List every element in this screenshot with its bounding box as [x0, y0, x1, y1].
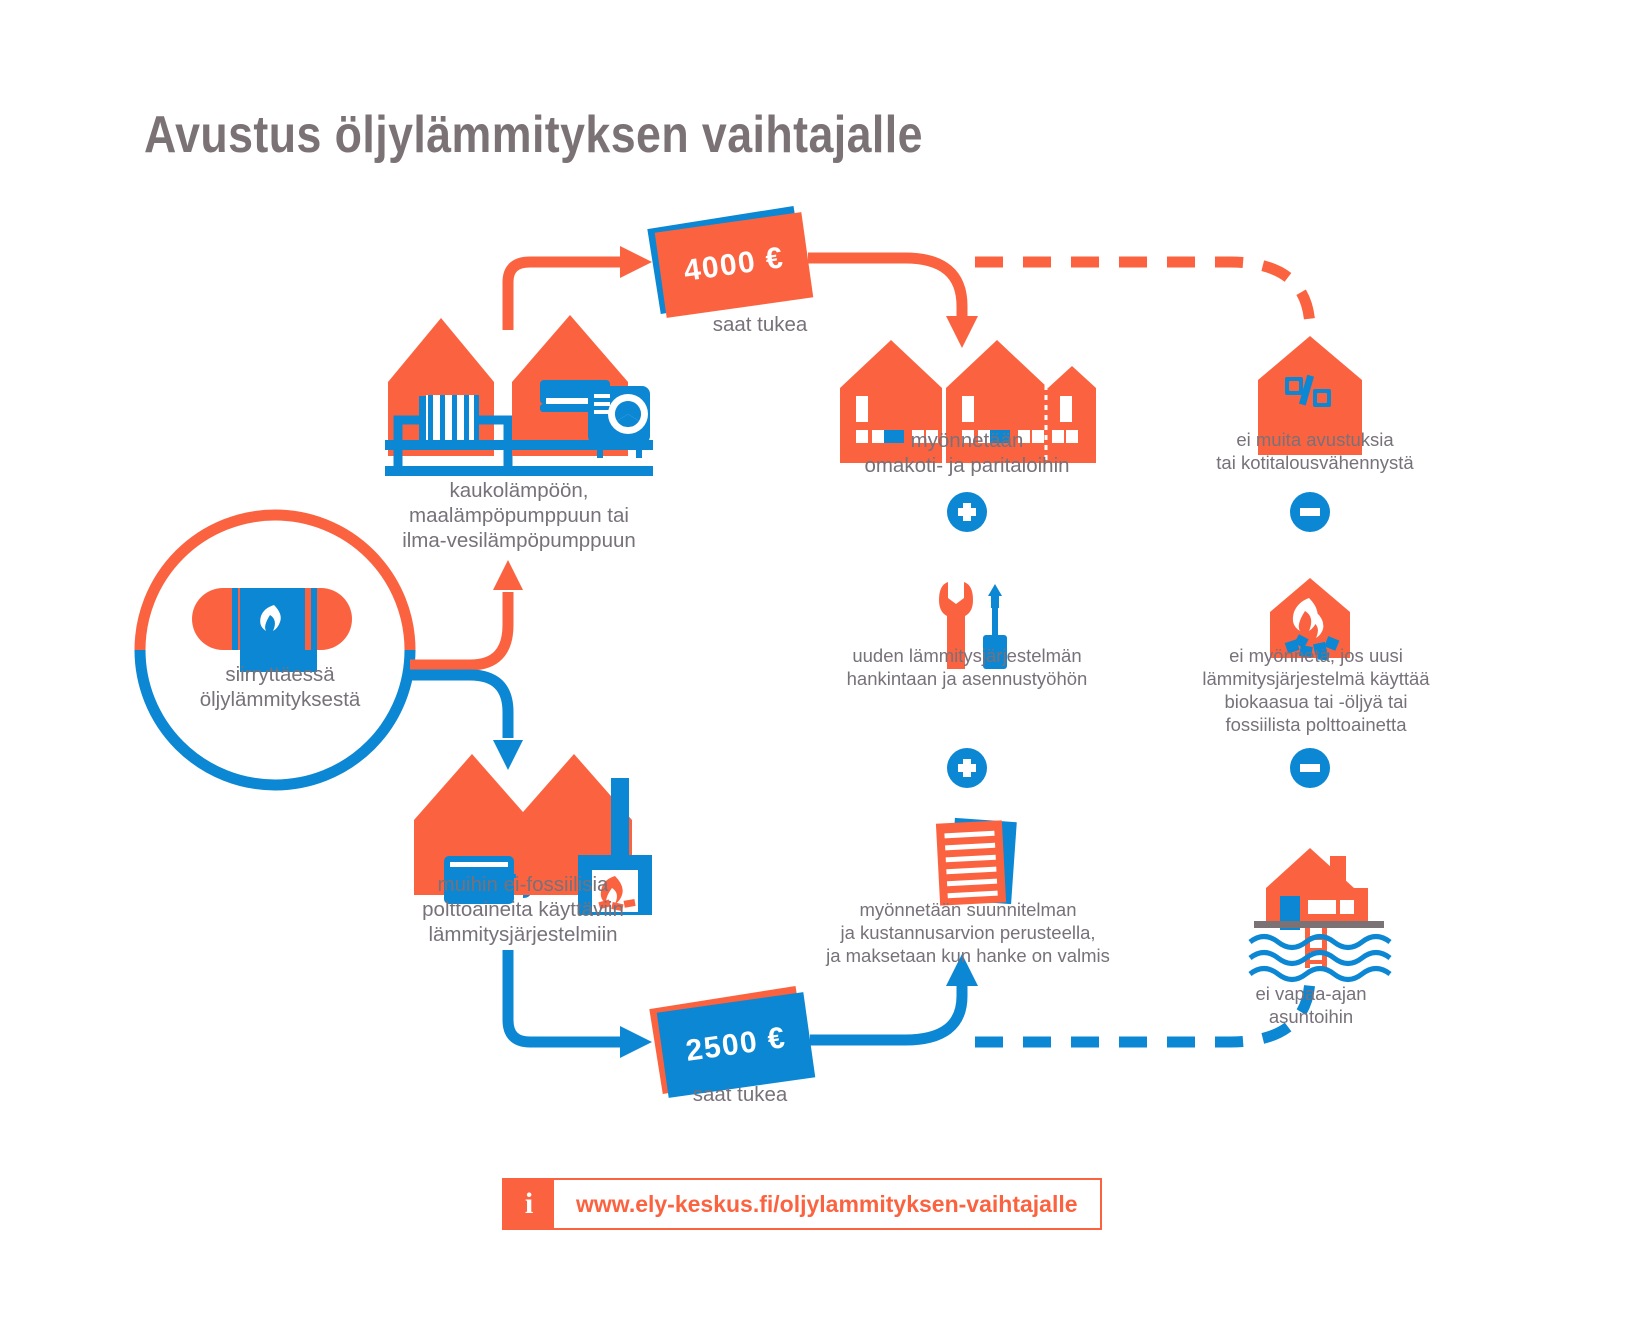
excluded-holiday-home-label: ei vapaa-ajan asuntoihin	[1180, 982, 1442, 1028]
start-label-line1: siirryttäessä	[140, 662, 420, 687]
granted-plan-label: myönnetään suunnitelman ja kustannusarvi…	[800, 898, 1136, 967]
infographic-canvas: Avustus öljylämmityksen vaihtajalle	[0, 0, 1644, 1333]
excluded-holiday-home-line2: asuntoihin	[1180, 1005, 1442, 1028]
excluded-other-aid-label: ei muita avustuksia tai kotitalousvähenn…	[1170, 428, 1460, 474]
arrow-branch-to-2500	[508, 950, 652, 1058]
start-label: siirryttäessä öljylämmityksestä	[140, 662, 420, 712]
branch-top-label-line3: ilma-vesilämpöpumppuun	[342, 528, 696, 553]
branch-bottom-label-line2: polttoaineita käyttäviin	[368, 897, 678, 922]
plus-circle-icon	[947, 748, 987, 788]
start-circle	[140, 515, 410, 785]
caption-2500-saat-tukea: saat tukea	[640, 1082, 840, 1107]
excluded-biogas-line4: fossiilista polttoainetta	[1168, 713, 1464, 736]
granted-tools-label: uuden lämmitysjärjestelmän hankintaan ja…	[812, 644, 1122, 690]
excluded-other-aid-line2: tai kotitalousvähennystä	[1170, 451, 1460, 474]
page-title: Avustus öljylämmityksen vaihtajalle	[144, 105, 1090, 165]
documents-icon	[936, 818, 1017, 906]
granted-tools-label-line2: hankintaan ja asennustyöhön	[812, 667, 1122, 690]
start-label-line2: öljylämmityksestä	[140, 687, 420, 712]
excluded-other-aid-line1: ei muita avustuksia	[1170, 428, 1460, 451]
plus-circle-icon	[947, 492, 987, 532]
arrow-to-bottom-branch	[410, 675, 523, 770]
excluded-biogas-line3: biokaasua tai -öljyä tai	[1168, 690, 1464, 713]
granted-houses-label-line2: omakoti- ja paritaloihin	[822, 453, 1112, 478]
excluded-biogas-line1: ei myönnetä, jos uusi	[1168, 644, 1464, 667]
granted-houses-label-line1: myönnetään	[822, 428, 1112, 453]
branch-top-label: kaukolämpöön, maalämpöpumppuun tai ilma-…	[342, 478, 696, 553]
holiday-home-icon	[1250, 848, 1390, 980]
granted-plan-label-line1: myönnetään suunnitelman	[800, 898, 1136, 921]
branch-bottom-label-line1: muihin ei-fossiilisia	[368, 872, 678, 897]
granted-plan-label-line3: ja maksetaan kun hanke on valmis	[800, 944, 1136, 967]
oil-tank-icon	[192, 588, 352, 672]
district-heating-houses-icon	[385, 315, 653, 476]
branch-top-label-line1: kaukolämpöön,	[342, 478, 696, 503]
branch-top-label-line2: maalämpöpumppuun tai	[342, 503, 696, 528]
minus-circle-icon	[1290, 492, 1330, 532]
excluded-biogas-line2: lämmitysjärjestelmä käyttää	[1168, 667, 1464, 690]
excluded-holiday-home-line1: ei vapaa-ajan	[1180, 982, 1442, 1005]
info-icon: i	[504, 1180, 554, 1228]
excluded-biogas-label: ei myönnetä, jos uusi lämmitysjärjestelm…	[1168, 644, 1464, 736]
minus-circle-icon	[1290, 748, 1330, 788]
arrow-to-top-branch	[410, 560, 523, 665]
granted-tools-label-line1: uuden lämmitysjärjestelmän	[812, 644, 1122, 667]
info-url-text[interactable]: www.ely-keskus.fi/oljylammityksen-vaihta…	[554, 1180, 1100, 1228]
info-url-bar[interactable]: i www.ely-keskus.fi/oljylammityksen-vaih…	[502, 1178, 1102, 1230]
branch-bottom-label-line3: lämmitysjärjestelmiin	[368, 922, 678, 947]
caption-4000-saat-tukea: saat tukea	[660, 312, 860, 337]
granted-houses-label: myönnetään omakoti- ja paritaloihin	[822, 428, 1112, 478]
branch-bottom-label: muihin ei-fossiilisia polttoaineita käyt…	[368, 872, 678, 947]
dashed-connector-top	[975, 262, 1310, 330]
granted-plan-label-line2: ja kustannusarvion perusteella,	[800, 921, 1136, 944]
arrow-branch-to-4000	[508, 246, 652, 330]
